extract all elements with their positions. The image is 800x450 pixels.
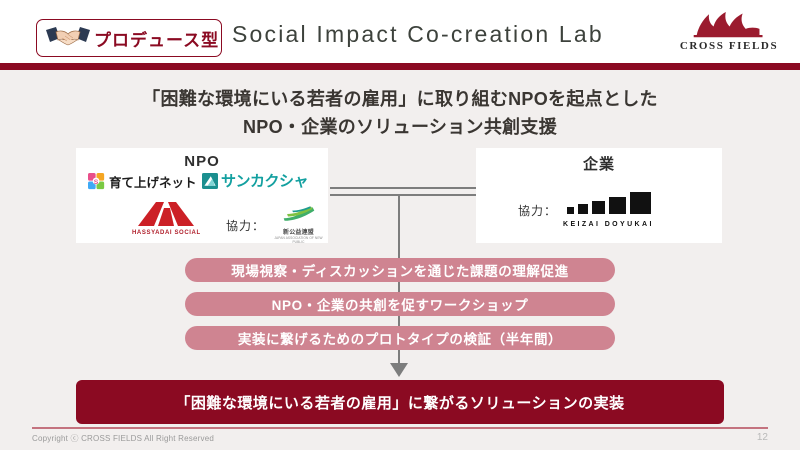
connector-line-top	[330, 187, 478, 189]
svg-text:S: S	[94, 179, 99, 186]
step-pill-1: 現場視察・ディスカッションを通じた課題の理解促進	[185, 258, 615, 282]
logo-shinkoueki-renmei: 新公益連盟 JAPAN ASSOCIATION OF NEW PUBLIC	[269, 206, 328, 244]
logo-keizai-doyukai-label: KEIZAI DOYUKAI	[563, 221, 654, 228]
page-title: Social Impact Co-creation Lab	[232, 21, 604, 48]
keizai-doyukai-bars-icon	[565, 192, 651, 214]
npo-cooperation-label: 協力：	[226, 217, 265, 234]
logo-shinkoueki-renmei-label: 新公益連盟	[269, 227, 328, 236]
connector-line-bottom	[330, 194, 478, 196]
headline: 「困難な環境にいる若者の雇用」に取り組むNPOを起点とした NPO・企業のソリュ…	[0, 86, 800, 142]
category-badge: プロデュース型	[36, 19, 222, 57]
brand-logo: CROSS FIELDS	[674, 12, 784, 52]
slide-header: プロデュース型 Social Impact Co-creation Lab CR…	[0, 0, 800, 63]
slide-canvas: プロデュース型 Social Impact Co-creation Lab CR…	[0, 0, 800, 450]
logo-hassyadai-social: HASSYADAI SOCIAL	[132, 202, 201, 236]
npo-panel-title: NPO	[76, 153, 328, 170]
logo-shinkoueki-renmei-sub: JAPAN ASSOCIATION OF NEW PUBLIC	[269, 236, 328, 244]
cross-fields-flame-logo	[683, 12, 775, 38]
npo-cooperation: 協力： 新公益連盟 JAPAN ASSOCIATION OF NEW PUBLI…	[226, 206, 328, 244]
headline-line-2: NPO・企業のソリューション共創支援	[0, 114, 800, 142]
logo-sankakusha-label: サンカクシャ	[221, 170, 308, 191]
category-badge-label: プロデュース型	[94, 26, 219, 51]
kigyo-panel: 企業 協力： KEIZAI DOYUKAI	[476, 148, 722, 243]
connector-arrow-icon	[390, 363, 408, 377]
kigyo-panel-title: 企業	[476, 153, 722, 174]
header-divider	[0, 63, 800, 70]
kigyo-cooperation-label: 協力：	[518, 202, 557, 219]
result-bar: 「困難な環境にいる若者の雇用」に繋がるソリューションの実装	[76, 380, 724, 424]
logo-hassyadai-social-label: HASSYADAI SOCIAL	[132, 230, 201, 236]
shinkoueki-renmei-icon	[282, 206, 316, 222]
footer-divider	[32, 427, 768, 429]
page-number: 12	[757, 432, 768, 443]
sankakusha-icon	[202, 173, 218, 189]
npo-panel: NPO S 育て上げネット サンカクシャ	[76, 148, 328, 243]
logo-sodateage-net-label: 育て上げネット	[109, 172, 197, 191]
handshake-icon	[45, 25, 91, 51]
headline-line-1: 「困難な環境にいる若者の雇用」に取り組むNPOを起点とした	[0, 86, 800, 114]
logo-sankakusha: サンカクシャ	[202, 170, 308, 191]
copyright-text: Copyright ⓒ CROSS FIELDS All Right Reser…	[32, 433, 214, 444]
logo-sodateage-net: S 育て上げネット	[88, 172, 197, 191]
kigyo-cooperation: 協力： KEIZAI DOYUKAI	[518, 192, 654, 228]
step-pill-3: 実装に繋げるためのプロトタイプの検証（半年間）	[185, 326, 615, 350]
sodateage-net-puzzle-icon: S	[88, 173, 105, 190]
step-pill-2: NPO・企業の共創を促すワークショップ	[185, 292, 615, 316]
brand-name: CROSS FIELDS	[674, 40, 784, 52]
logo-keizai-doyukai: KEIZAI DOYUKAI	[563, 192, 654, 228]
hassyadai-social-icon	[134, 202, 198, 226]
